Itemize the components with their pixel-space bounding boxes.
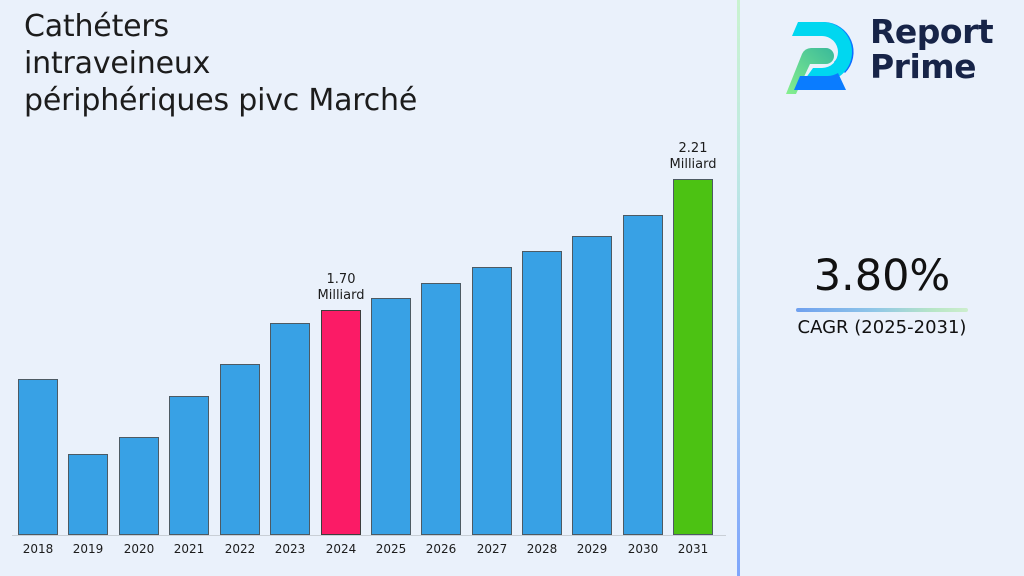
bar-2028[interactable] xyxy=(522,251,562,535)
x-tick-2022: 2022 xyxy=(212,541,268,557)
bar-value-label-2024: 1.70 Milliard xyxy=(299,272,383,304)
bar-2018[interactable] xyxy=(18,379,58,535)
chart-panel: Cathéters intraveineux périphériques piv… xyxy=(0,0,738,576)
x-tick-2023: 2023 xyxy=(262,541,318,557)
bar-2027[interactable] xyxy=(472,267,512,535)
cagr-block: 3.80% CAGR (2025-2031) xyxy=(740,250,1024,340)
x-tick-2020: 2020 xyxy=(111,541,167,557)
bar-2024[interactable] xyxy=(321,310,361,535)
bar-value-label-2031: 2.21 Milliard xyxy=(651,141,735,173)
bar-2029[interactable] xyxy=(572,236,612,535)
brand-logo: Report Prime xyxy=(776,10,1008,100)
screenshot-root: Cathéters intraveineux périphériques piv… xyxy=(0,0,1024,576)
bar-2021[interactable] xyxy=(169,396,209,535)
cagr-label: CAGR (2025-2031) xyxy=(740,316,1024,340)
x-tick-2029: 2029 xyxy=(564,541,620,557)
bar-2019[interactable] xyxy=(68,454,108,535)
brand-name-line2: Prime xyxy=(870,49,993,84)
x-tick-2031: 2031 xyxy=(665,541,721,557)
bar-2025[interactable] xyxy=(371,298,411,535)
x-tick-2030: 2030 xyxy=(615,541,671,557)
brand-name: Report Prime xyxy=(870,14,993,84)
x-tick-2024: 2024 xyxy=(313,541,369,557)
x-axis-line xyxy=(12,535,726,536)
x-tick-2027: 2027 xyxy=(464,541,520,557)
bar-2030[interactable] xyxy=(623,215,663,535)
x-tick-2026: 2026 xyxy=(413,541,469,557)
x-tick-2028: 2028 xyxy=(514,541,570,557)
x-tick-2018: 2018 xyxy=(10,541,66,557)
brand-name-line1: Report xyxy=(870,14,993,49)
bar-2023[interactable] xyxy=(270,323,310,535)
bar-2020[interactable] xyxy=(119,437,159,535)
x-tick-2025: 2025 xyxy=(363,541,419,557)
cagr-value: 3.80% xyxy=(740,250,1024,302)
bar-2031[interactable] xyxy=(673,179,713,535)
report-prime-logo-icon xyxy=(776,14,862,96)
x-tick-2019: 2019 xyxy=(60,541,116,557)
bar-2022[interactable] xyxy=(220,364,260,535)
summary-panel: Report Prime 3.80% CAGR (2025-2031) xyxy=(740,0,1024,576)
x-tick-2021: 2021 xyxy=(161,541,217,557)
bar-chart: 1.70 Milliard2.21 Milliard 2018201920202… xyxy=(0,0,738,576)
bar-2026[interactable] xyxy=(421,283,461,535)
cagr-divider xyxy=(796,308,968,312)
